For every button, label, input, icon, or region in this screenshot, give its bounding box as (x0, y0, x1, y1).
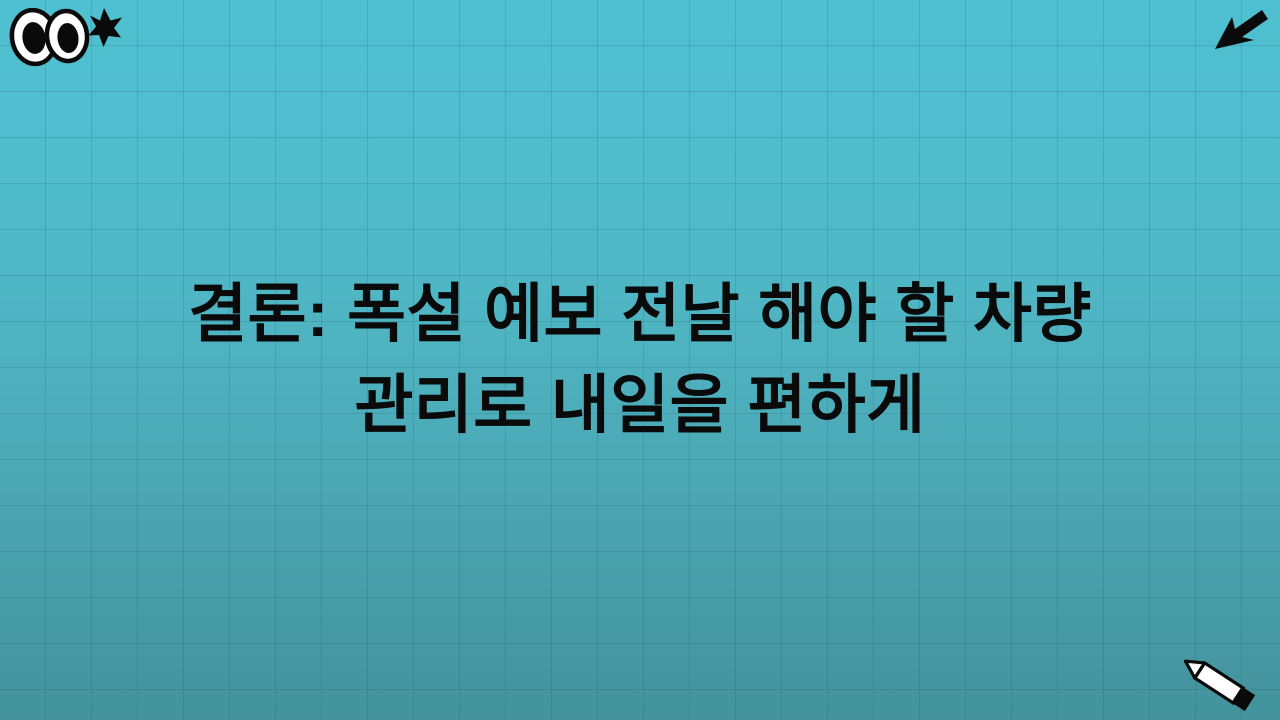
page-title: 결론: 폭설 예보 전날 해야 할 차량 관리로 내일을 편하게 (170, 269, 1110, 451)
slide-canvas: 결론: 폭설 예보 전날 해야 할 차량 관리로 내일을 편하게 (0, 0, 1280, 720)
headline-container: 결론: 폭설 예보 전날 해야 할 차량 관리로 내일을 편하게 (0, 0, 1280, 720)
